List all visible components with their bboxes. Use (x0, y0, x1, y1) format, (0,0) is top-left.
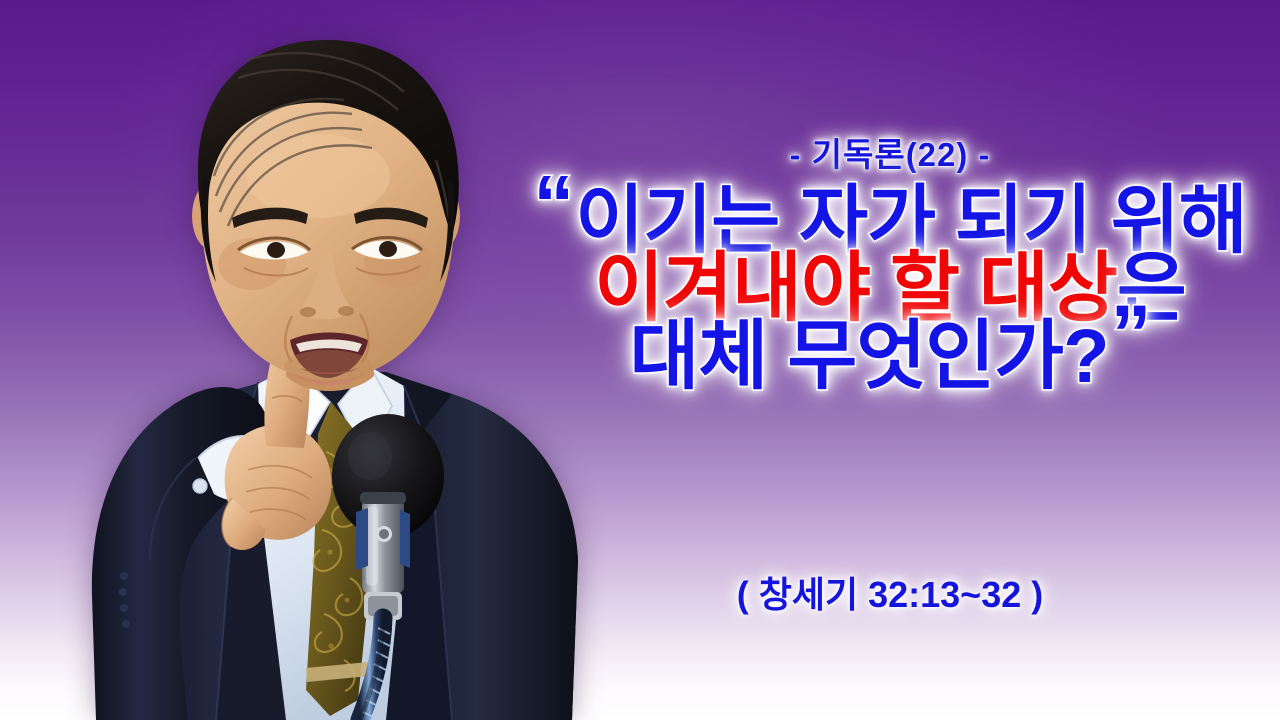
headline-line-3-text: 대체 무엇인가? (629, 314, 1108, 399)
scripture-reference: ( 창세기 32:13~32 ) (500, 566, 1280, 618)
title-text-block: - 기독론(22) - “이기는 자가 되기 위해 이겨내야 할 대상은 대체 … (500, 0, 1280, 720)
title-card-canvas: - 기독론(22) - “이기는 자가 되기 위해 이겨내야 할 대상은 대체 … (0, 0, 1280, 720)
headline: “이기는 자가 되기 위해 이겨내야 할 대상은 대체 무엇인가?” (500, 184, 1280, 394)
headline-line-3: 대체 무엇인가?” (500, 320, 1280, 394)
series-kicker: - 기독론(22) - (500, 128, 1280, 176)
close-quote-mark: ” (1111, 289, 1151, 380)
open-quote-mark: “ (533, 159, 573, 250)
